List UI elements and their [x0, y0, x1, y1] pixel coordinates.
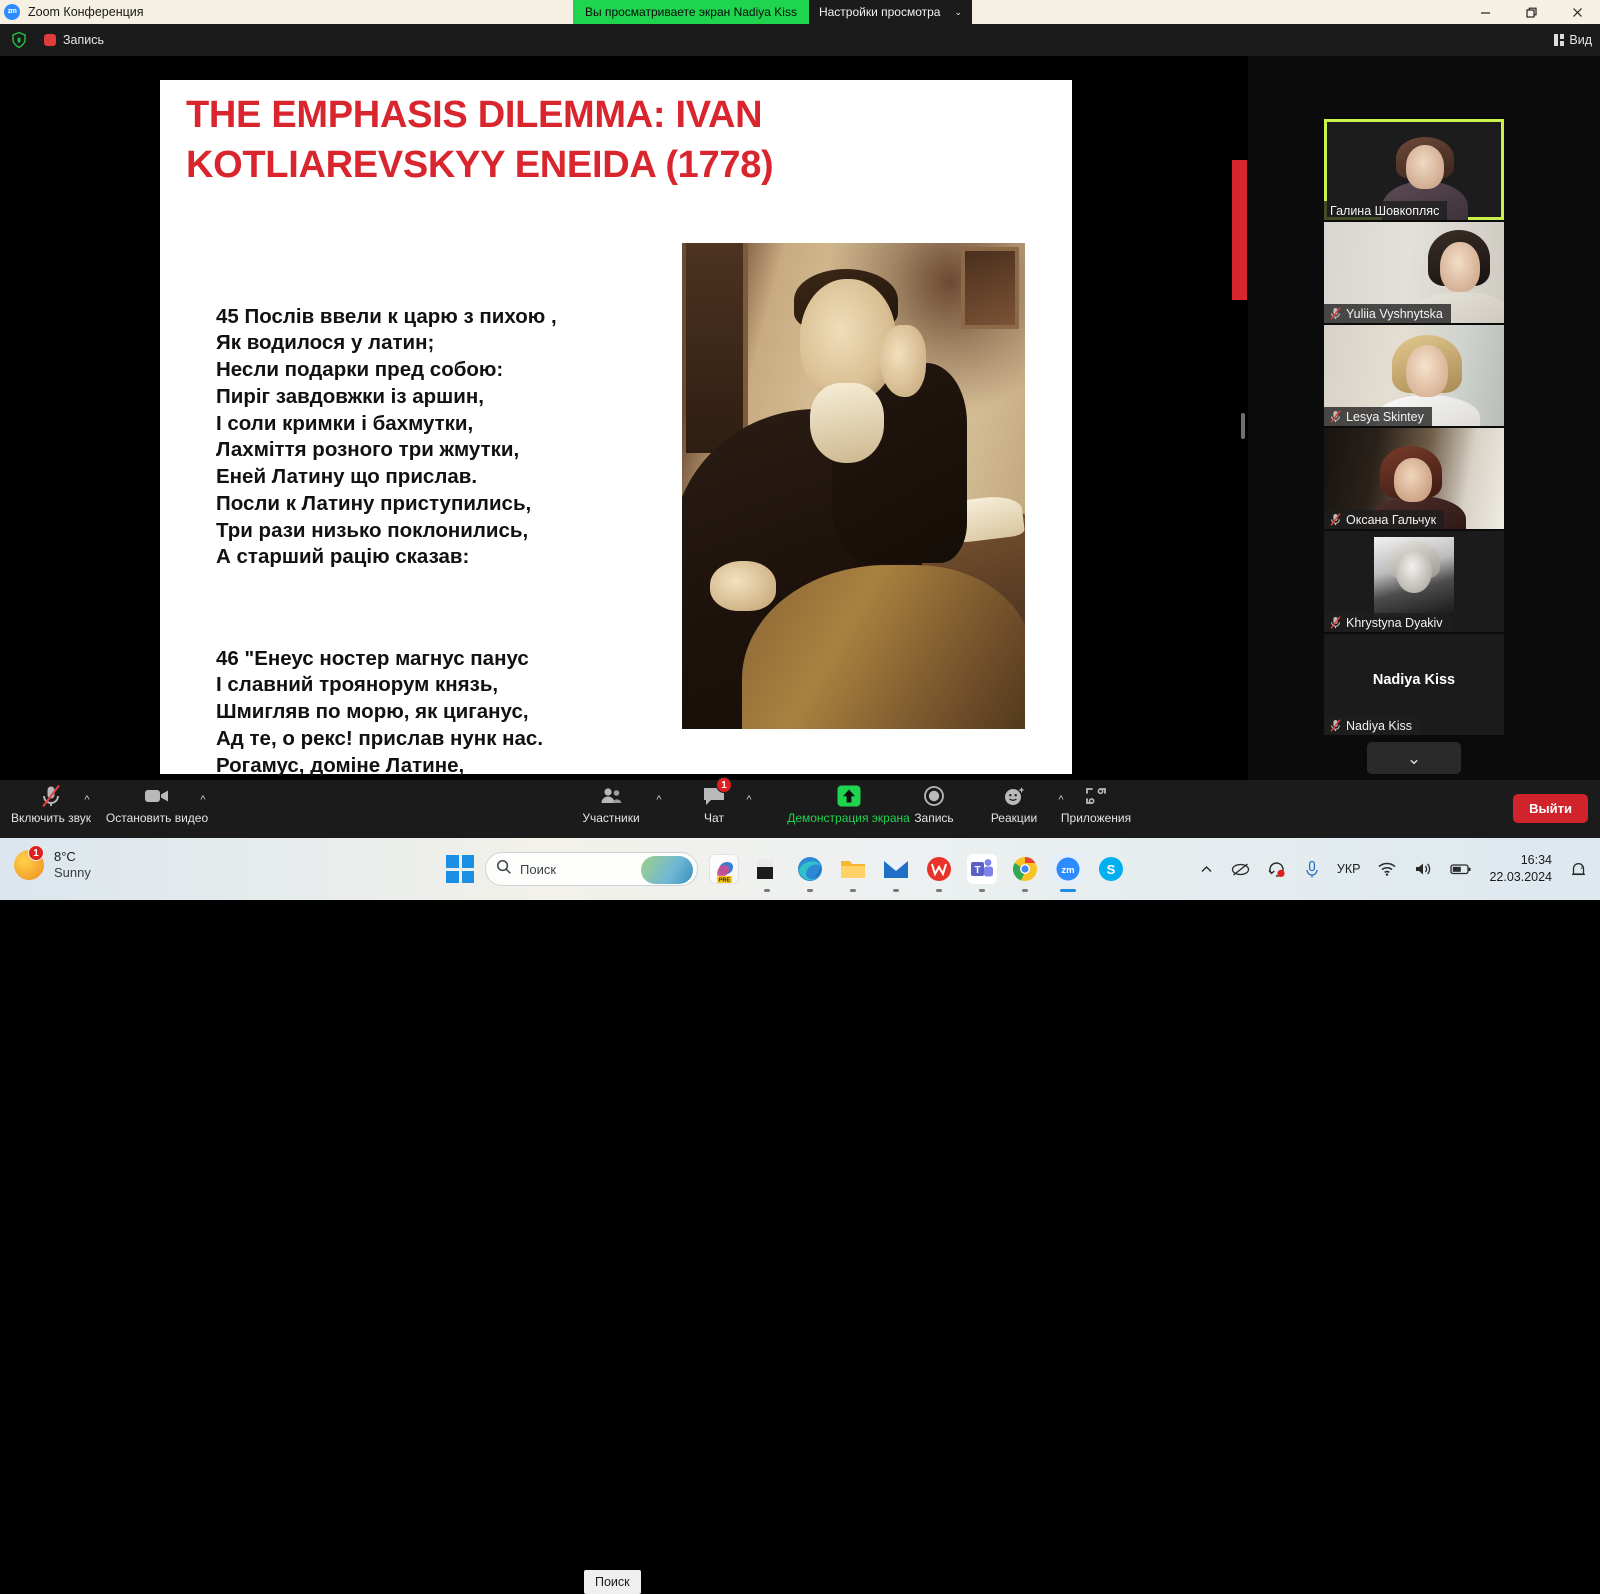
meeting-toolbar[interactable]: Включить звук ^ Остановить видео ^ Участ…	[0, 780, 1600, 838]
chevron-down-icon: ⌄	[1407, 750, 1421, 767]
layout-grid-icon	[1554, 34, 1564, 46]
start-button[interactable]	[446, 855, 474, 883]
filmstrip-scroll-down-button[interactable]: ⌄	[1367, 742, 1461, 774]
audio-options-chevron-up-icon[interactable]: ^	[80, 793, 94, 807]
chat-options-chevron-up-icon[interactable]: ^	[742, 793, 756, 807]
video-tile-4[interactable]: Khrystyna Dyakiv	[1324, 531, 1504, 632]
language-indicator[interactable]: УКР	[1337, 862, 1361, 876]
encryption-shield-icon[interactable]	[10, 31, 28, 49]
volume-icon[interactable]	[1414, 861, 1433, 877]
toolbar-label: Чат	[704, 811, 724, 825]
toolbar-mute-button[interactable]: Включить звук	[5, 784, 97, 834]
search-input[interactable]: Поиск	[485, 852, 698, 886]
recording-indicator[interactable]: Запись	[44, 33, 104, 47]
microphone-muted-icon	[40, 784, 62, 808]
participant-name: Оксана Гальчук	[1346, 513, 1436, 527]
notes-icon[interactable]	[752, 854, 782, 884]
window-title-bar: zm Zoom Конференция Вы просматриваете эк…	[0, 0, 1600, 24]
participant-name: Галина Шовкопляс	[1330, 204, 1439, 218]
view-layout-button[interactable]: Вид	[1554, 33, 1592, 47]
participant-name: Nadiya Kiss	[1346, 719, 1412, 733]
weather-description: Sunny	[54, 865, 91, 881]
svg-text:PRE: PRE	[719, 878, 731, 883]
toolbar-participants-button[interactable]: Участники	[565, 784, 657, 834]
restore-icon[interactable]	[1508, 0, 1554, 24]
svg-text:zm: zm	[1061, 865, 1074, 876]
slide-title: THE EMPHASIS DILEMMA: IVAN KOTLIAREVSKYY…	[186, 90, 1046, 190]
participant-filmstrip[interactable]: Галина Шовкопляс Yuliia Vyshnytska	[1248, 56, 1600, 780]
microphone-muted-icon	[1330, 719, 1341, 732]
weather-badge: 1	[28, 845, 44, 861]
screen-share-banner: Вы просматриваете экран Nadiya Kiss	[573, 0, 809, 24]
toolbar-label: Реакции	[991, 811, 1037, 825]
microphone-muted-icon	[1330, 616, 1341, 629]
view-settings-button[interactable]: Настройки просмотра	[809, 0, 951, 24]
participant-name-badge: Yuliia Vyshnytska	[1324, 304, 1451, 323]
chat-unread-badge: 1	[716, 777, 732, 793]
svg-text:T: T	[974, 865, 980, 876]
record-icon	[923, 784, 945, 808]
slide-accent-bar	[1232, 160, 1247, 300]
mail-icon[interactable]	[881, 854, 911, 884]
recording-label: Запись	[63, 33, 104, 47]
chevron-down-icon[interactable]: ⌄	[950, 0, 972, 24]
participant-name-badge: Оксана Гальчук	[1324, 510, 1444, 529]
presentation-slide: THE EMPHASIS DILEMMA: IVAN KOTLIAREVSKYY…	[160, 80, 1072, 774]
participant-name-badge: Nadiya Kiss	[1324, 716, 1420, 735]
wps-office-icon[interactable]	[924, 854, 954, 884]
app-title: Zoom Конференция	[28, 5, 144, 19]
apps-icon	[1084, 784, 1108, 808]
chat-icon: 1	[702, 784, 726, 808]
notifications-bell-icon[interactable]: z	[1569, 860, 1588, 879]
wifi-icon[interactable]	[1377, 861, 1397, 877]
zoom-icon[interactable]: zm	[1052, 854, 1084, 884]
participant-name-badge: Khrystyna Dyakiv	[1324, 613, 1451, 632]
view-label: Вид	[1569, 33, 1592, 47]
toolbar-reactions-button[interactable]: Реакции	[968, 784, 1060, 834]
stage-resize-handle[interactable]	[1241, 413, 1245, 439]
meeting-info-bar: Запись Вид	[0, 24, 1600, 56]
participant-name: Lesya Skintey	[1346, 410, 1424, 424]
toolbar-apps-button[interactable]: Приложения	[1050, 784, 1142, 834]
participant-name-badge: Галина Шовкопляс	[1324, 201, 1447, 220]
participants-icon	[599, 784, 623, 808]
avatar	[1374, 537, 1454, 617]
camera-icon	[144, 784, 170, 808]
toolbar-record-button[interactable]: Запись	[888, 784, 980, 834]
sun-icon: 1	[14, 850, 44, 880]
copilot-icon[interactable]: PRE	[709, 854, 739, 884]
video-tile-5[interactable]: Nadiya Kiss Nadiya Kiss	[1324, 634, 1504, 735]
shared-screen-stage[interactable]: THE EMPHASIS DILEMMA: IVAN KOTLIAREVSKYY…	[0, 56, 1240, 780]
toolbar-label: Участники	[582, 811, 639, 825]
svg-text:z: z	[1581, 865, 1584, 871]
search-placeholder: Поиск	[520, 862, 556, 877]
clock[interactable]: 16:34 22.03.2024	[1489, 852, 1552, 886]
battery-icon[interactable]	[1450, 862, 1472, 876]
screen-recording-icon[interactable]	[1267, 860, 1287, 879]
microphone-muted-icon	[1330, 513, 1341, 526]
kotliarevskyy-portrait-image	[682, 243, 1025, 729]
teams-icon[interactable]: T	[967, 854, 997, 884]
participant-name: Yuliia Vyshnytska	[1346, 307, 1443, 321]
toolbar-label: Остановить видео	[106, 811, 208, 825]
share-screen-icon	[836, 784, 862, 808]
svg-text:S: S	[1107, 862, 1116, 877]
zoom-logo-icon: zm	[4, 4, 20, 20]
windows-taskbar[interactable]: 1 8°C Sunny Поиск PRE	[0, 838, 1600, 900]
toolbar-label: Приложения	[1061, 811, 1131, 825]
participant-name: Khrystyna Dyakiv	[1346, 616, 1443, 630]
microphone-muted-icon	[1330, 410, 1341, 423]
weather-widget[interactable]: 1 8°C Sunny	[14, 849, 91, 882]
toolbar-label: Включить звук	[11, 811, 91, 825]
toolbar-chat-button[interactable]: 1 Чат	[668, 784, 760, 834]
minimize-icon[interactable]	[1462, 0, 1508, 24]
video-tile-0[interactable]: Галина Шовкопляс	[1324, 119, 1504, 220]
video-tile-2[interactable]: Lesya Skintey	[1324, 325, 1504, 426]
window-controls	[1462, 0, 1600, 24]
toolbar-label: Запись	[914, 811, 953, 825]
poem-stanza-45: 45 Послів ввели к царю з пихою , Як води…	[216, 304, 646, 572]
participant-display-name: Nadiya Kiss	[1324, 672, 1504, 688]
microphone-muted-icon	[1330, 307, 1341, 320]
record-dot-icon	[44, 34, 56, 46]
skype-icon[interactable]: S	[1096, 854, 1126, 884]
search-highlight-thumbnail	[641, 856, 693, 884]
video-options-chevron-up-icon[interactable]: ^	[196, 793, 210, 807]
weather-temperature: 8°C	[54, 849, 91, 865]
file-explorer-icon[interactable]	[838, 854, 868, 884]
video-tile-1[interactable]: Yuliia Vyshnytska	[1324, 222, 1504, 323]
reactions-icon	[1002, 784, 1026, 808]
system-tray[interactable]: УКР 16:34 22.03.2024	[1199, 838, 1600, 900]
no-display-icon[interactable]	[1231, 860, 1250, 879]
clock-time: 16:34	[1521, 852, 1552, 869]
toolbar-video-button[interactable]: Остановить видео	[111, 784, 203, 834]
chrome-icon[interactable]	[1010, 854, 1040, 884]
tray-expand-chevron-up-icon[interactable]	[1199, 862, 1214, 877]
close-icon[interactable]	[1554, 0, 1600, 24]
microphone-icon[interactable]	[1304, 860, 1320, 879]
screen-share-banner-group: Вы просматриваете экран Nadiya Kiss Наст…	[573, 0, 972, 24]
video-tile-3[interactable]: Оксана Гальчук	[1324, 428, 1504, 529]
leave-meeting-button[interactable]: Выйти	[1513, 794, 1588, 823]
search-icon	[496, 859, 512, 880]
search-tooltip: Поиск	[584, 1570, 641, 1594]
edge-icon[interactable]	[795, 854, 825, 884]
participants-options-chevron-up-icon[interactable]: ^	[652, 793, 666, 807]
participant-name-badge: Lesya Skintey	[1324, 407, 1432, 426]
clock-date: 22.03.2024	[1489, 869, 1552, 886]
